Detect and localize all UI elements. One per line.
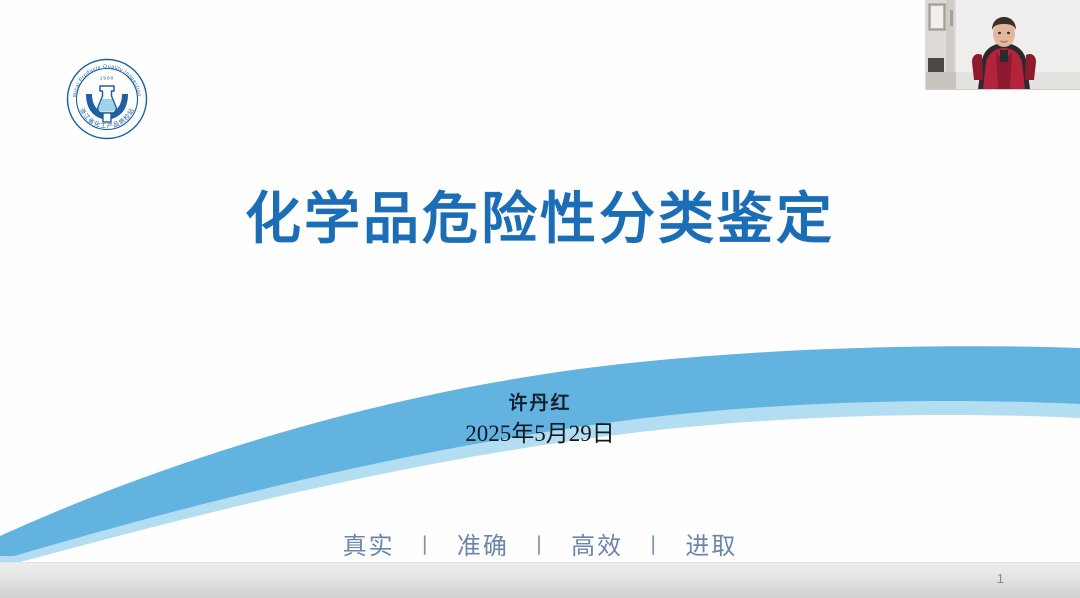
slogan-separator-1: 丨	[414, 530, 437, 560]
svg-text:1988: 1988	[100, 76, 114, 81]
slogan-item-4: 进取	[685, 532, 737, 560]
slogan-separator-2: 丨	[529, 530, 552, 560]
company-slogan: 真实 丨 准确 丨 高效 丨 进取	[0, 526, 1080, 561]
page-title: 化学品危险性分类鉴定	[0, 186, 1080, 253]
slogan-item-1: 真实	[343, 532, 395, 560]
slogan-item-2: 准确	[457, 532, 509, 560]
slogan-item-3: 高效	[571, 532, 623, 560]
presenter-info: 许丹红 2025年5月29日	[0, 392, 1080, 447]
slogan-separator-3: 丨	[643, 530, 666, 560]
presentation-date: 2025年5月29日	[0, 420, 1080, 448]
slide-canvas: Chemical Products Quality Inspection Co.…	[0, 0, 1080, 562]
company-logo: Chemical Products Quality Inspection Co.…	[66, 58, 148, 140]
page-number: 1	[997, 571, 1004, 586]
slide-footer-bar: 1	[0, 562, 1080, 598]
presenter-video-feed[interactable]	[925, 0, 1080, 90]
presenter-name: 许丹红	[0, 392, 1080, 416]
presentation-slide: Chemical Products Quality Inspection Co.…	[0, 0, 1080, 598]
